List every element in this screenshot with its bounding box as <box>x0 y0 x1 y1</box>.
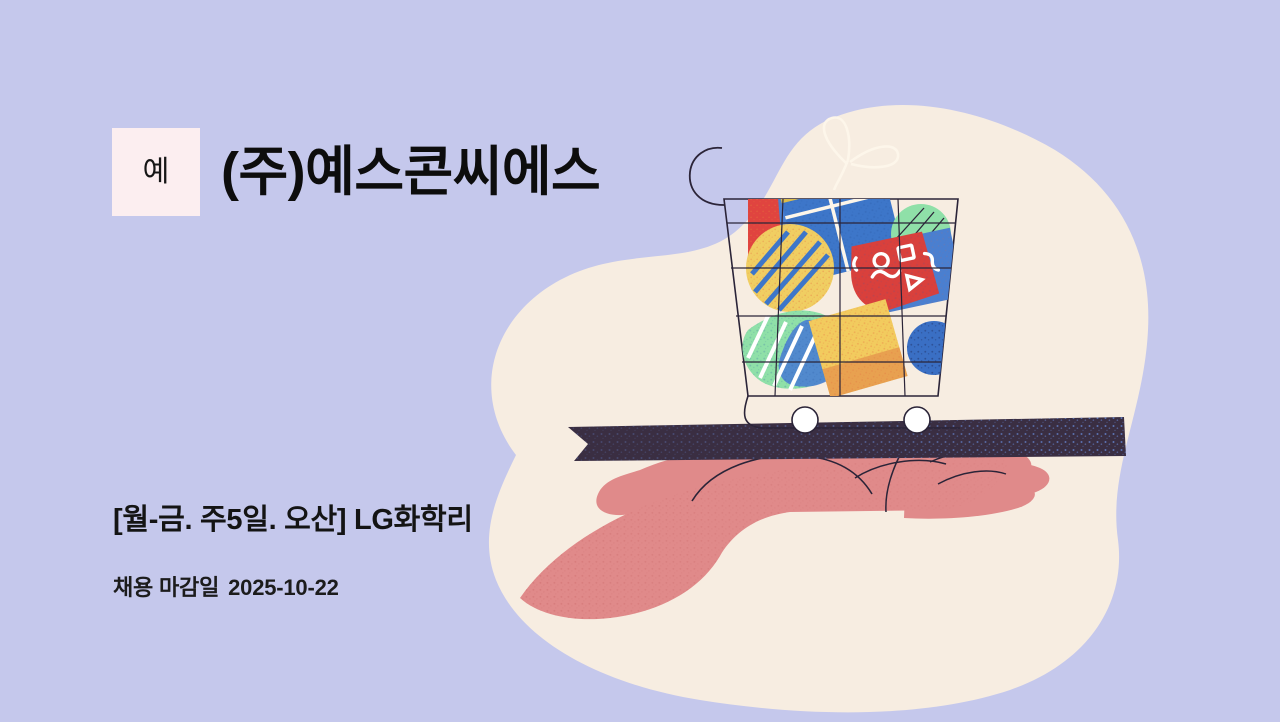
text-layer: 예 (주)예스콘씨에스 [월-금. 주5일. 오산] LG화학리 채용 마감일2… <box>0 0 1280 722</box>
company-logo-badge: 예 <box>112 128 200 216</box>
deadline-row: 채용 마감일2025-10-22 <box>113 575 339 601</box>
job-posting-card: 예 (주)예스콘씨에스 [월-금. 주5일. 오산] LG화학리 채용 마감일2… <box>0 0 1280 722</box>
company-name: (주)예스콘씨에스 <box>221 144 600 201</box>
job-title: [월-금. 주5일. 오산] LG화학리 <box>113 504 473 537</box>
deadline-date: 2025-10-22 <box>228 575 339 600</box>
company-header: 예 (주)예스콘씨에스 <box>112 128 600 216</box>
deadline-label: 채용 마감일 <box>113 575 219 600</box>
